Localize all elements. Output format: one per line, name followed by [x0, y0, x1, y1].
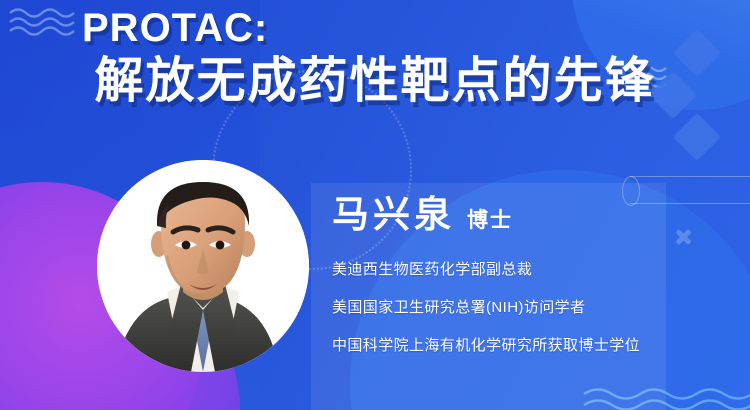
credential-line: 中国科学院上海有机化学研究所获取博士学位: [332, 338, 640, 353]
banner-title-block: PROTAC: 解放无成药性靶点的先锋: [0, 6, 750, 111]
speaker-credentials: 美迪西生物医药化学部副总裁 美国国家卫生研究总署(NIH)访问学者 中国科学院上…: [332, 262, 640, 353]
page-title-chinese: 解放无成药性靶点的先锋: [0, 53, 750, 111]
x-mark-icon: [674, 228, 692, 246]
speaker-portrait: [97, 160, 309, 410]
credential-line: 美迪西生物医药化学部副总裁: [332, 262, 640, 277]
diamond-shape-icon-3: [673, 113, 721, 161]
speaker-name: 马兴泉: [332, 196, 455, 233]
speaker-portrait-photo: [97, 160, 309, 372]
speaker-name-row: 马兴泉博士: [332, 196, 513, 234]
webinar-banner: PROTAC: 解放无成药性靶点的先锋: [0, 0, 750, 410]
speaker-degree-title: 博士: [467, 204, 513, 234]
credential-line: 美国国家卫生研究总署(NIH)访问学者: [332, 300, 640, 315]
page-title-english: PROTAC:: [0, 6, 750, 51]
